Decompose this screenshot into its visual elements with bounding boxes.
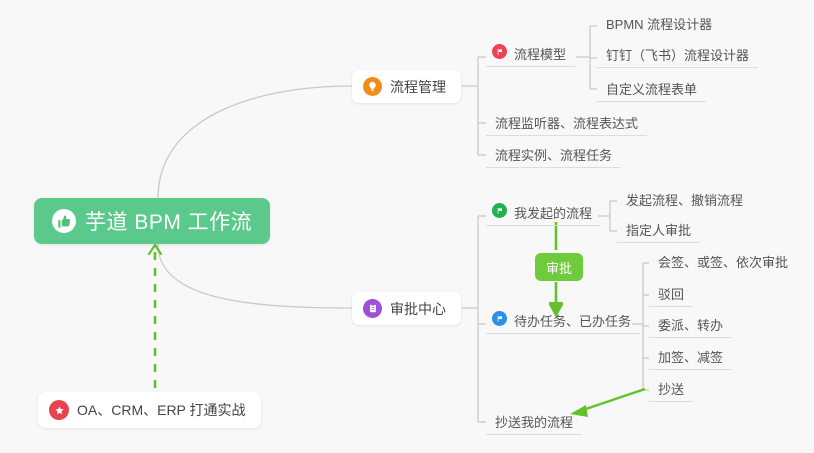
node-countersign-orsign-sequential[interactable]: 会签、或签、依次审批 bbox=[649, 248, 797, 274]
node-dingtalk-feishu-designer[interactable]: 钉钉（飞书）流程设计器 bbox=[597, 42, 758, 68]
approval-chip-label: 审批 bbox=[546, 258, 572, 277]
node-cc[interactable]: 抄送 bbox=[649, 376, 693, 402]
node-designated-approver-label: 指定人审批 bbox=[626, 224, 691, 238]
root-node[interactable]: 芋道 BPM 工作流 bbox=[34, 198, 270, 244]
node-process-listener-expression[interactable]: 流程监听器、流程表达式 bbox=[486, 110, 647, 136]
branch-approval-center[interactable]: 审批中心 bbox=[352, 292, 461, 325]
thumbs-up-icon bbox=[52, 209, 76, 233]
node-cc-label: 抄送 bbox=[658, 383, 684, 397]
node-start-cancel-process[interactable]: 发起流程、撤销流程 bbox=[617, 186, 752, 212]
node-cc-to-me-processes[interactable]: 抄送我的流程 bbox=[486, 409, 582, 435]
node-cc-to-me-processes-label: 抄送我的流程 bbox=[495, 416, 573, 430]
node-bpmn-designer[interactable]: BPMN 流程设计器 bbox=[597, 10, 721, 36]
node-custom-process-form-label: 自定义流程表单 bbox=[606, 83, 697, 97]
node-bpmn-designer-label: BPMN 流程设计器 bbox=[606, 18, 712, 32]
node-add-remove-sign-label: 加签、减签 bbox=[658, 351, 723, 365]
mindmap-canvas: 芋道 BPM 工作流 流程管理 流程模型 BPMN 流程设计器 钉钉（飞书）流程… bbox=[0, 0, 814, 453]
node-process-instance-task-label: 流程实例、流程任务 bbox=[495, 149, 612, 163]
node-my-started-processes-label: 我发起的流程 bbox=[514, 207, 592, 221]
node-delegate-transfer[interactable]: 委派、转办 bbox=[649, 312, 732, 338]
node-dingtalk-feishu-designer-label: 钉钉（飞书）流程设计器 bbox=[606, 49, 749, 63]
branch-approval-center-label: 审批中心 bbox=[390, 299, 446, 319]
dashed-up-arrow bbox=[149, 245, 161, 388]
integration-callout[interactable]: OA、CRM、ERP 打通实战 bbox=[38, 392, 261, 428]
branch-process-management[interactable]: 流程管理 bbox=[352, 70, 461, 103]
approval-chip[interactable]: 审批 bbox=[535, 253, 583, 281]
branch-process-management-label: 流程管理 bbox=[390, 77, 446, 97]
flag-icon bbox=[492, 203, 507, 218]
node-add-remove-sign[interactable]: 加签、减签 bbox=[649, 344, 732, 370]
integration-callout-label: OA、CRM、ERP 打通实战 bbox=[77, 400, 246, 420]
node-reject[interactable]: 驳回 bbox=[649, 281, 693, 307]
node-todo-done-tasks-label: 待办任务、已办任务 bbox=[514, 315, 631, 329]
node-process-model[interactable]: 流程模型 bbox=[486, 41, 575, 67]
node-countersign-orsign-sequential-label: 会签、或签、依次审批 bbox=[658, 256, 788, 270]
link-root-to-approval-center bbox=[158, 244, 352, 308]
node-designated-approver[interactable]: 指定人审批 bbox=[617, 217, 700, 243]
clipboard-icon bbox=[363, 299, 382, 318]
node-my-started-processes[interactable]: 我发起的流程 bbox=[486, 200, 601, 226]
node-start-cancel-process-label: 发起流程、撤销流程 bbox=[626, 194, 743, 208]
node-process-listener-expression-label: 流程监听器、流程表达式 bbox=[495, 117, 638, 131]
lightbulb-icon bbox=[363, 77, 382, 96]
node-todo-done-tasks[interactable]: 待办任务、已办任务 bbox=[486, 308, 640, 334]
flag-icon bbox=[492, 44, 507, 59]
link-root-to-process-management bbox=[158, 86, 352, 198]
star-icon bbox=[49, 400, 69, 420]
node-custom-process-form[interactable]: 自定义流程表单 bbox=[597, 76, 706, 102]
node-delegate-transfer-label: 委派、转办 bbox=[658, 319, 723, 333]
node-process-model-label: 流程模型 bbox=[514, 48, 566, 62]
node-process-instance-task[interactable]: 流程实例、流程任务 bbox=[486, 142, 621, 168]
node-reject-label: 驳回 bbox=[658, 288, 684, 302]
root-label: 芋道 BPM 工作流 bbox=[85, 206, 252, 236]
flag-icon bbox=[492, 311, 507, 326]
